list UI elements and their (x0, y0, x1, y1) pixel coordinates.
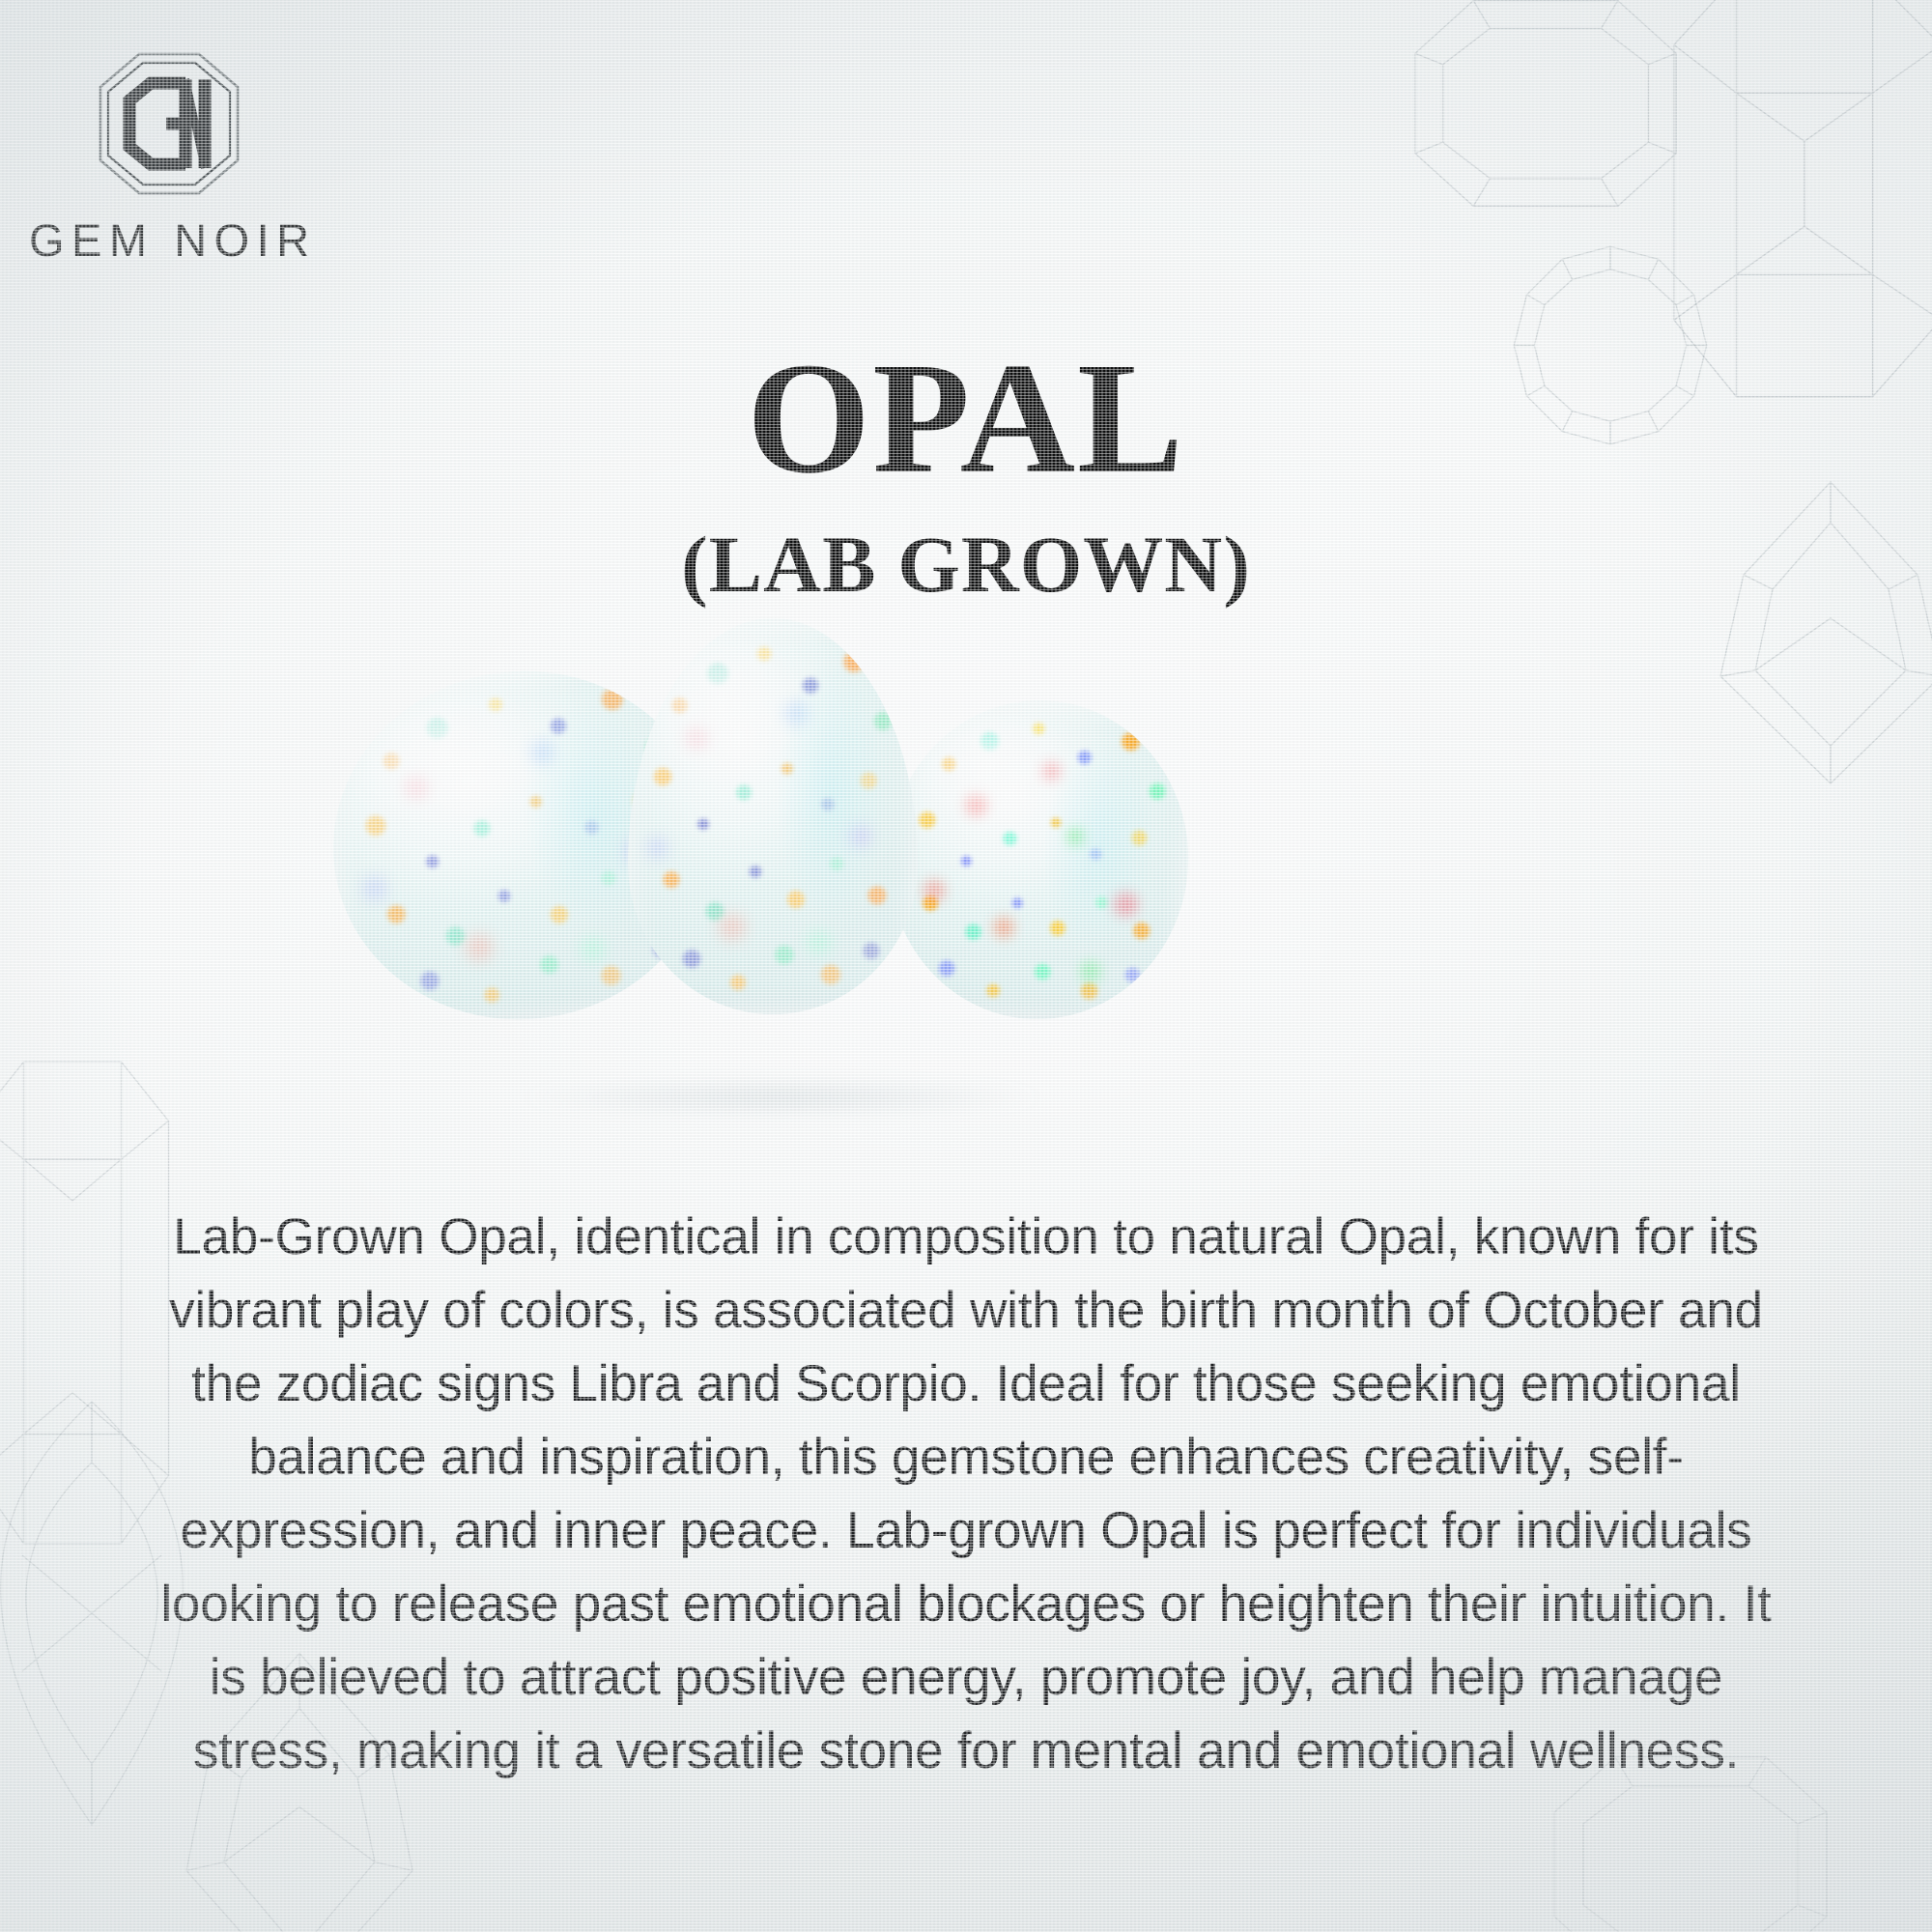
page-subtitle: (LAB GROWN) (0, 525, 1932, 605)
gemstone-cluster (0, 618, 1932, 1140)
gem-noir-monogram-icon (29, 50, 309, 202)
brand-name: GEM NOIR (29, 213, 309, 267)
title-block: OPAL (LAB GROWN) (0, 338, 1932, 605)
opal-cabochon-pear-center (628, 618, 918, 1014)
opal-cabochon-round-right (878, 691, 1199, 1030)
poster-canvas: GEM NOIR OPAL (LAB GROWN) (0, 0, 1932, 1932)
product-description: Lab-Grown Opal, identical in composition… (145, 1201, 1787, 1788)
watermark-gem-octagon-top-right (1406, 0, 1686, 214)
brand-logo-block[interactable]: GEM NOIR (29, 50, 309, 267)
page-title: OPAL (0, 338, 1932, 497)
gemstone-shadow (415, 1072, 1150, 1122)
